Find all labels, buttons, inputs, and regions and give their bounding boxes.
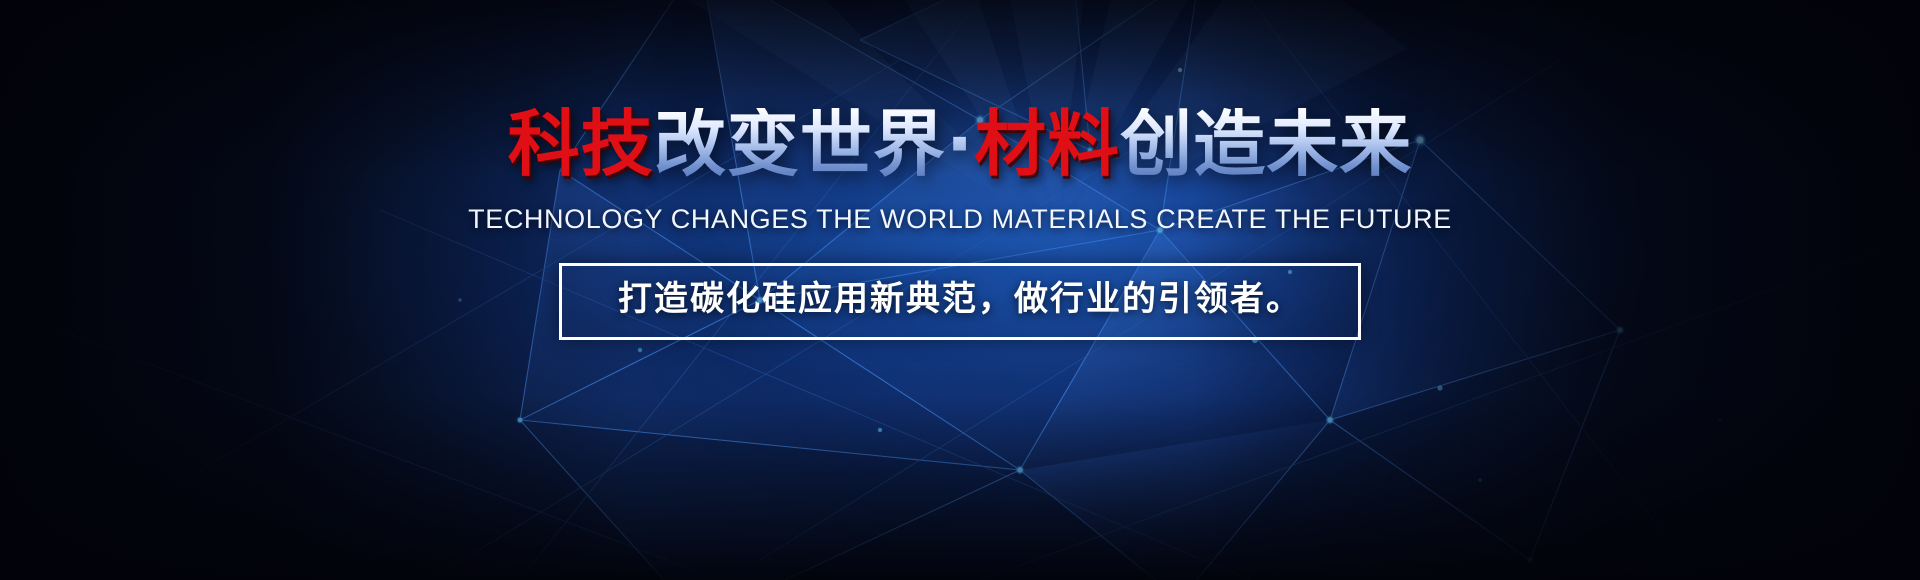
headline-segment-1: 科技 [508,108,654,180]
subtitle-english: TECHNOLOGY CHANGES THE WORLD MATERIALS C… [468,204,1452,235]
tagline-box: 打造碳化硅应用新典范，做行业的引领者。 [559,263,1361,340]
page-title: 科技改变世界·材料创造未来 [508,108,1412,180]
hero-banner: 科技改变世界·材料创造未来 TECHNOLOGY CHANGES THE WOR… [0,0,1920,580]
headline-segment-3: 材料 [974,108,1120,180]
headline-segment-2: 改变世界· [654,108,974,180]
tagline-text: 打造碳化硅应用新典范，做行业的引领者。 [618,280,1302,319]
banner-content: 科技改变世界·材料创造未来 TECHNOLOGY CHANGES THE WOR… [0,0,1920,580]
headline-segment-4: 创造未来 [1120,108,1412,180]
